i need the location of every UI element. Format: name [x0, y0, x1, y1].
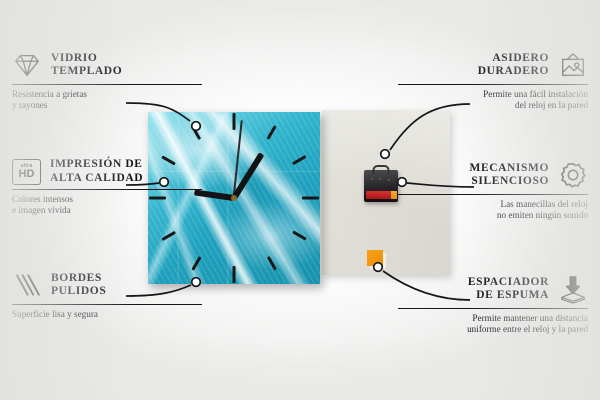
divider [398, 84, 588, 85]
feature-header: BORDES PULIDOS [12, 270, 202, 300]
feature-title: BORDES PULIDOS [51, 272, 106, 299]
feature-header: ASIDERO DURADERO [398, 50, 588, 80]
feature-title: VIDRIO TEMPLADO [51, 52, 122, 79]
polished-edges-icon [12, 270, 42, 300]
feature-asidero-duradero: ASIDERO DURADERO Permite una fácil insta… [398, 50, 588, 111]
feature-header: VIDRIO TEMPLADO [12, 50, 202, 80]
diamond-icon [12, 50, 42, 80]
connector-dot-espaciador [374, 263, 383, 272]
connector-dot-vidrio [192, 122, 201, 131]
ultra-hd-badge-icon: ultra HD [12, 159, 41, 185]
feature-title: ESPACIADOR DE ESPUMA [468, 276, 549, 303]
gear-icon [558, 160, 588, 190]
divider [398, 194, 588, 195]
feature-title: MECANISMO SILENCIOSO [469, 162, 549, 189]
feature-impresion-alta-calidad: ultra HD IMPRESIÓN DE ALTA CALIDAD Color… [12, 158, 202, 216]
feature-description: Las manecillas del reloj no emiten ningú… [398, 199, 588, 221]
feature-mecanismo-silencioso: MECANISMO SILENCIOSO Las manecillas del … [398, 160, 588, 221]
divider [398, 308, 588, 309]
wall-hanger-frame-icon [558, 50, 588, 80]
feature-description: Superficie lisa y segura [12, 309, 202, 320]
feature-description: Colores intensos e imagen vívida [12, 194, 202, 216]
feature-bordes-pulidos: BORDES PULIDOS Superficie lisa y segura [12, 270, 202, 320]
connector-dot-asidero [381, 150, 390, 159]
infographic-canvas: VIDRIO TEMPLADO Resistencia a grietas y … [0, 0, 600, 400]
foam-spacer-arrow-icon [558, 274, 588, 304]
divider [12, 304, 202, 305]
feature-espaciador-espuma: ESPACIADOR DE ESPUMA Permite mantener un… [398, 274, 588, 335]
feature-title: ASIDERO DURADERO [478, 52, 549, 79]
divider [12, 84, 202, 85]
feature-vidrio-templado: VIDRIO TEMPLADO Resistencia a grietas y … [12, 50, 202, 111]
feature-description: Permite mantener una distancia uniforme … [398, 313, 588, 335]
feature-header: MECANISMO SILENCIOSO [398, 160, 588, 190]
feature-description: Permite una fácil instalación del reloj … [398, 89, 588, 111]
feature-description: Resistencia a grietas y rayones [12, 89, 202, 111]
feature-header: ESPACIADOR DE ESPUMA [398, 274, 588, 304]
feature-header: ultra HD IMPRESIÓN DE ALTA CALIDAD [12, 158, 202, 185]
divider [12, 189, 202, 190]
hd-label: HD [19, 169, 35, 180]
feature-title: IMPRESIÓN DE ALTA CALIDAD [50, 158, 143, 185]
